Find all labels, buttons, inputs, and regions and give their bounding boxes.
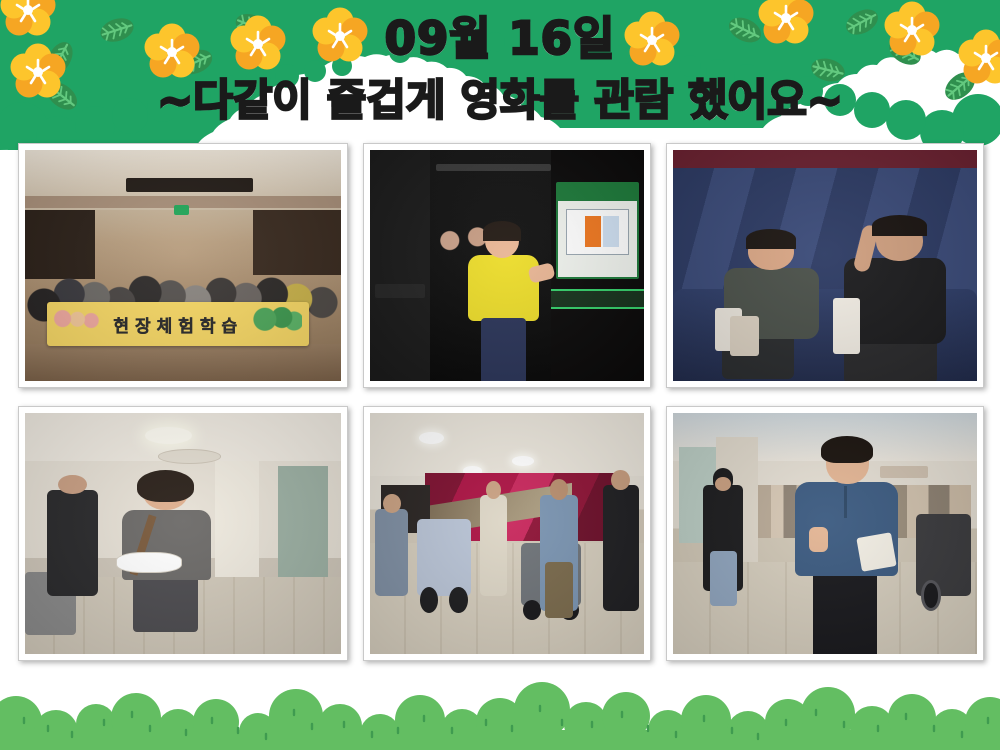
person-peace-sign-left (722, 233, 825, 376)
photo-frame-5[interactable] (363, 406, 651, 661)
field-trip-banner: 현장체험학습 (47, 302, 309, 346)
bottom-green-bush-decoration (0, 660, 1000, 750)
banner-text: 현장체험학습 (113, 312, 243, 337)
photo-1-image: 현장체험학습 (25, 150, 341, 381)
title-block: 09월 16일 ~다같이 즐겁게 영화를 관람 했어요~ (0, 8, 1000, 130)
photo-frame-6[interactable] (666, 406, 984, 661)
drink-cup (833, 298, 861, 355)
wheelchair-user (417, 519, 472, 596)
page-title: 09월 16일 (0, 8, 1000, 70)
green-door-notice-bar (551, 289, 644, 310)
lotte-cinema-plate (375, 284, 424, 298)
emergency-evacuation-sign (556, 182, 638, 279)
mall-ceiling-sign (126, 178, 252, 192)
photo-frame-3[interactable] (666, 143, 984, 388)
exit-sign-icon (174, 205, 190, 214)
photo-frame-1[interactable]: 현장체험학습 (18, 143, 348, 388)
person-with-drink (540, 495, 578, 611)
food-plate (116, 552, 182, 573)
photo-frame-2[interactable] (363, 143, 651, 388)
photo-grid: 현장체험학습 (18, 143, 984, 661)
person-standing (480, 495, 507, 596)
photo-frame-4[interactable] (18, 406, 348, 661)
photo-4-image (25, 413, 341, 654)
page-subtitle: ~다같이 즐겁게 영화를 관람 했어요~ (0, 72, 1000, 130)
poster-page: 09월 16일 ~다같이 즐겁게 영화를 관람 했어요~ 현장체험학 (0, 0, 1000, 750)
photo-row-bottom (18, 406, 984, 661)
person-standing (375, 509, 408, 596)
popcorn-bucket (730, 316, 759, 356)
photo-5-image (370, 413, 644, 654)
person-yellow-shirt (463, 224, 545, 381)
person-holding-plate (120, 476, 215, 650)
snack-package (856, 532, 896, 572)
photo-2-image (370, 150, 644, 381)
wheelchair-user (916, 514, 971, 596)
background-person (703, 485, 743, 591)
person-peace-sign-right (837, 215, 953, 381)
photo-3-image (673, 150, 977, 381)
photo-6-image (673, 413, 977, 654)
background-person (47, 490, 98, 596)
person-standing (603, 485, 639, 610)
person-blue-polo (795, 442, 898, 654)
photo-row-top: 현장체험학습 (18, 143, 984, 388)
